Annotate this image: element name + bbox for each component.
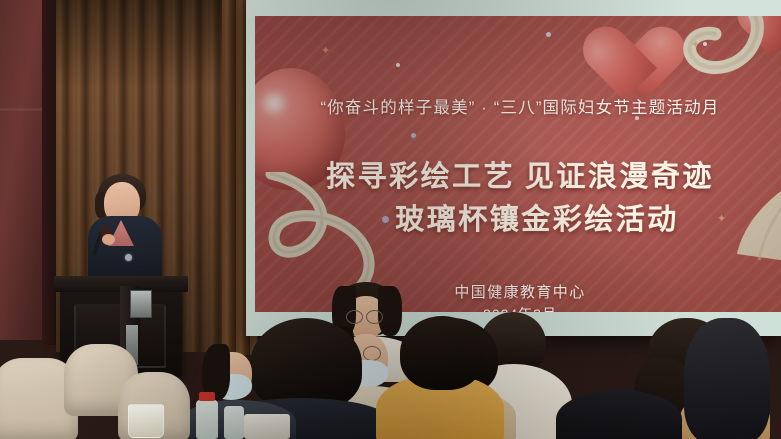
projection-screen: ✦ ✦ ✦ “你奋斗的样子最美” · “三八”国际妇女节主题活动月 探寻彩绘工艺… <box>246 0 781 336</box>
audience-hair <box>684 318 770 439</box>
audience-torso <box>556 390 682 439</box>
audience-hair <box>400 316 484 390</box>
speaker-hand <box>102 234 115 245</box>
paper-cup <box>128 404 164 438</box>
bottle-cap-1 <box>199 392 215 401</box>
speaker-figure <box>78 172 170 292</box>
presentation-slide: ✦ ✦ ✦ “你奋斗的样子最美” · “三八”国际妇女节主题活动月 探寻彩绘工艺… <box>255 16 781 312</box>
audience-member-yellow-coat <box>376 356 496 439</box>
slide-subtitle: “你奋斗的样子最美” · “三八”国际妇女节主题活动月 <box>255 94 781 118</box>
slide-text-block: “你奋斗的样子最美” · “三八”国际妇女节主题活动月 探寻彩绘工艺 见证浪漫奇… <box>255 16 781 312</box>
speaker-lapel-pin <box>125 254 132 261</box>
slide-title-line-2: 玻璃杯镶金彩绘活动 <box>255 196 781 238</box>
water-bottle-2 <box>224 406 244 439</box>
table-cup-group <box>128 404 166 438</box>
podium-plaque <box>130 290 152 318</box>
slide-title-line-1: 探寻彩绘工艺 见证浪漫奇迹 <box>255 153 781 195</box>
water-bottle-1 <box>196 400 218 439</box>
presentation-photo: ✦ ✦ ✦ “你奋斗的样子最美” · “三八”国际妇女节主题活动月 探寻彩绘工艺… <box>0 0 781 439</box>
audience-member-far-right <box>690 300 781 439</box>
napkin <box>244 414 290 439</box>
audience-member-bottom-center <box>556 380 676 439</box>
